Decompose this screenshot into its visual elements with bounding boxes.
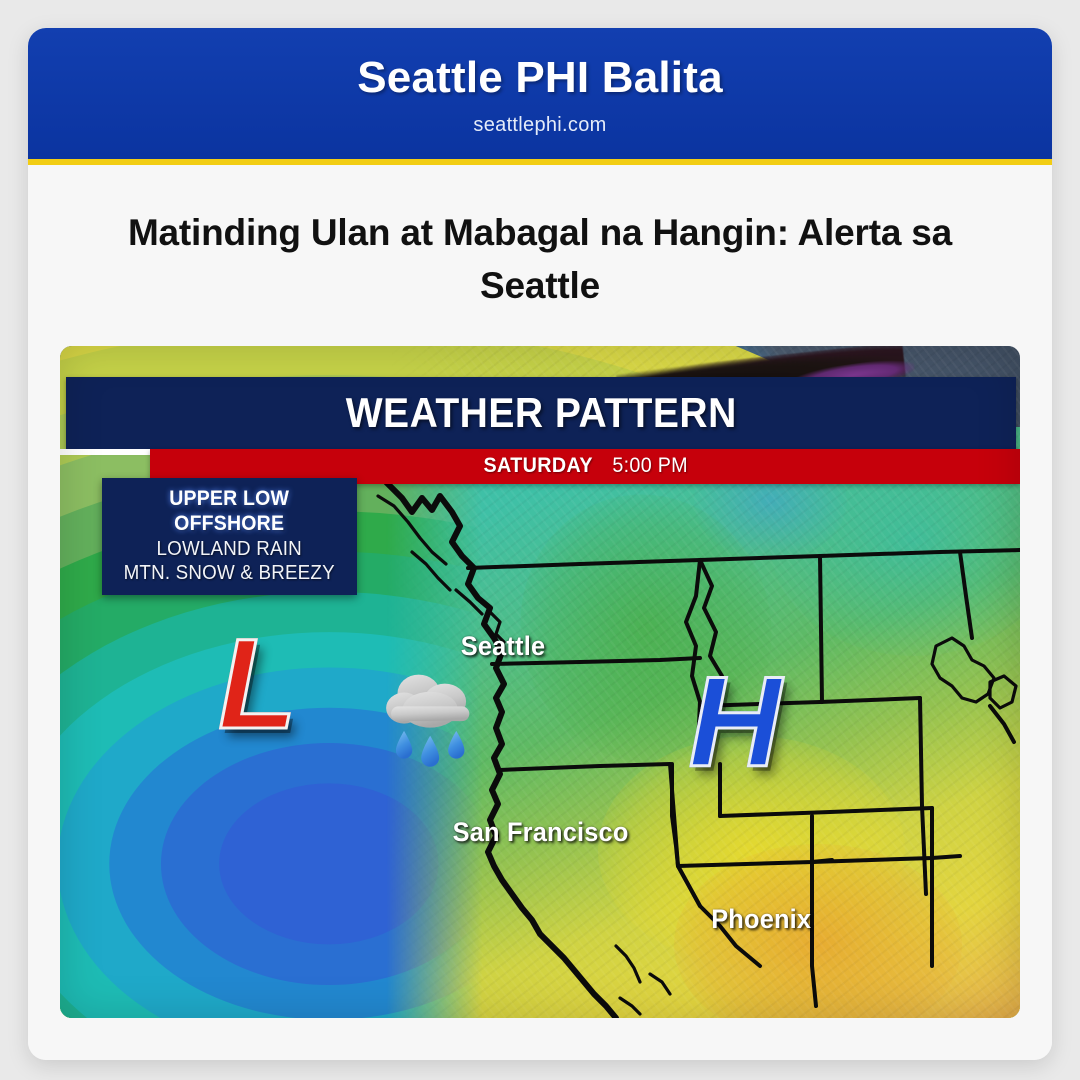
- low-pressure-symbol: L: [218, 621, 296, 749]
- weather-map-graphic: WEATHER PATTERN SATURDAY 5:00 PM UPPER L…: [60, 346, 1020, 1018]
- article-headline: Matinding Ulan at Mabagal na Hangin: Ale…: [94, 207, 986, 312]
- rain-cloud-icon: [379, 664, 485, 778]
- callout-line-2: OFFSHORE: [117, 512, 342, 537]
- city-label-san-francisco: San Francisco: [452, 817, 628, 848]
- weather-banner-time: 5:00 PM: [613, 454, 688, 478]
- callout-line-1: UPPER LOW: [117, 487, 342, 512]
- high-pressure-symbol: H: [689, 659, 781, 787]
- weather-banner-day: SATURDAY: [483, 454, 592, 478]
- forecast-callout-box: UPPER LOW OFFSHORE LOWLAND RAIN MTN. SNO…: [102, 478, 356, 595]
- page-background: Seattle PHI Balita seattlephi.com Matind…: [0, 0, 1080, 1080]
- headline-section: Matinding Ulan at Mabagal na Hangin: Ale…: [28, 165, 1052, 346]
- article-card: Seattle PHI Balita seattlephi.com Matind…: [28, 28, 1052, 1060]
- site-title: Seattle PHI Balita: [48, 54, 1032, 102]
- weather-figure-wrap: WEATHER PATTERN SATURDAY 5:00 PM UPPER L…: [28, 346, 1052, 1060]
- weather-banner-title: WEATHER PATTERN: [66, 377, 1016, 448]
- callout-line-4: MTN. SNOW & BREEZY: [116, 561, 344, 585]
- city-label-phoenix: Phoenix: [711, 904, 811, 935]
- callout-line-3: LOWLAND RAIN: [116, 537, 344, 561]
- city-label-seattle: Seattle: [461, 631, 546, 662]
- weather-banner-stub: [60, 449, 151, 455]
- weather-banner-title-text: WEATHER PATTERN: [345, 389, 736, 437]
- site-header: Seattle PHI Balita seattlephi.com: [28, 28, 1052, 165]
- site-url[interactable]: seattlephi.com: [48, 114, 1032, 137]
